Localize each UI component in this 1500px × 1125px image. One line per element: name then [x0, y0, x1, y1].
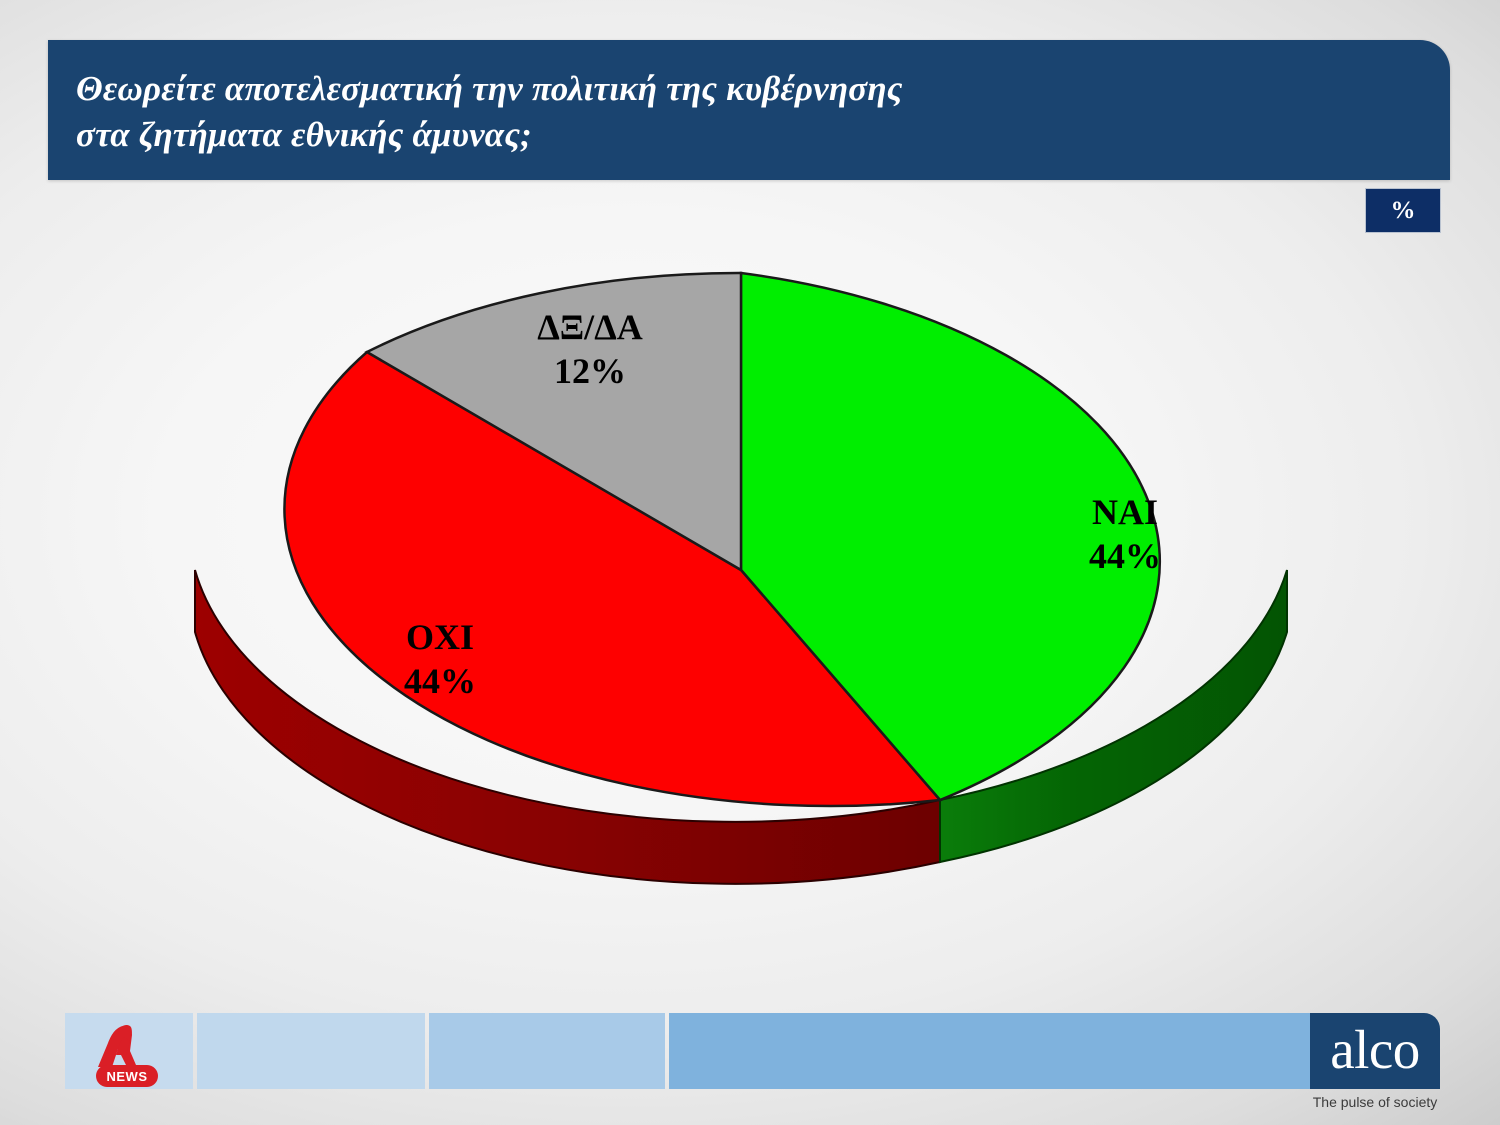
alco-tagline: The pulse of society — [1310, 1095, 1440, 1109]
pie-label-dk-da-name: ΔΞ/ΔΑ — [455, 305, 725, 349]
pie-label-dk-da: ΔΞ/ΔΑ 12% — [455, 305, 725, 393]
pie-label-nai: ΝΑΙ 44% — [985, 490, 1265, 578]
percent-unit-badge: % — [1365, 188, 1441, 233]
pie-slice-oxi — [284, 352, 940, 806]
alpha-news-label: NEWS — [107, 1070, 148, 1083]
footer-segment-3 — [429, 1013, 665, 1089]
alco-logo: alco — [1310, 1013, 1440, 1089]
pie-label-nai-value: 44% — [985, 534, 1265, 578]
pie-label-dk-da-value: 12% — [455, 349, 725, 393]
pie-label-oxi-value: 44% — [310, 659, 570, 703]
pie-side-nai — [940, 570, 1287, 862]
page-title-line-1: Θεωρείτε αποτελεσματική την πολιτική της… — [76, 66, 1450, 112]
alpha-news-badge: NEWS — [96, 1065, 158, 1087]
footer-segment-4 — [669, 1013, 1324, 1089]
question-title-banner: Θεωρείτε αποτελεσματική την πολιτική της… — [48, 40, 1450, 180]
pie-label-oxi-name: ΟΧΙ — [310, 615, 570, 659]
pie-label-nai-name: ΝΑΙ — [985, 490, 1265, 534]
footer-bar: NEWS alco The pulse of society — [0, 1013, 1500, 1125]
alco-wordmark: alco — [1330, 1022, 1420, 1077]
pie-label-oxi: ΟΧΙ 44% — [310, 615, 570, 703]
percent-unit-label: % — [1391, 198, 1416, 223]
footer-segment-2 — [197, 1013, 425, 1089]
page-title-line-2: στα ζητήματα εθνικής άμυνας; — [76, 112, 1450, 158]
